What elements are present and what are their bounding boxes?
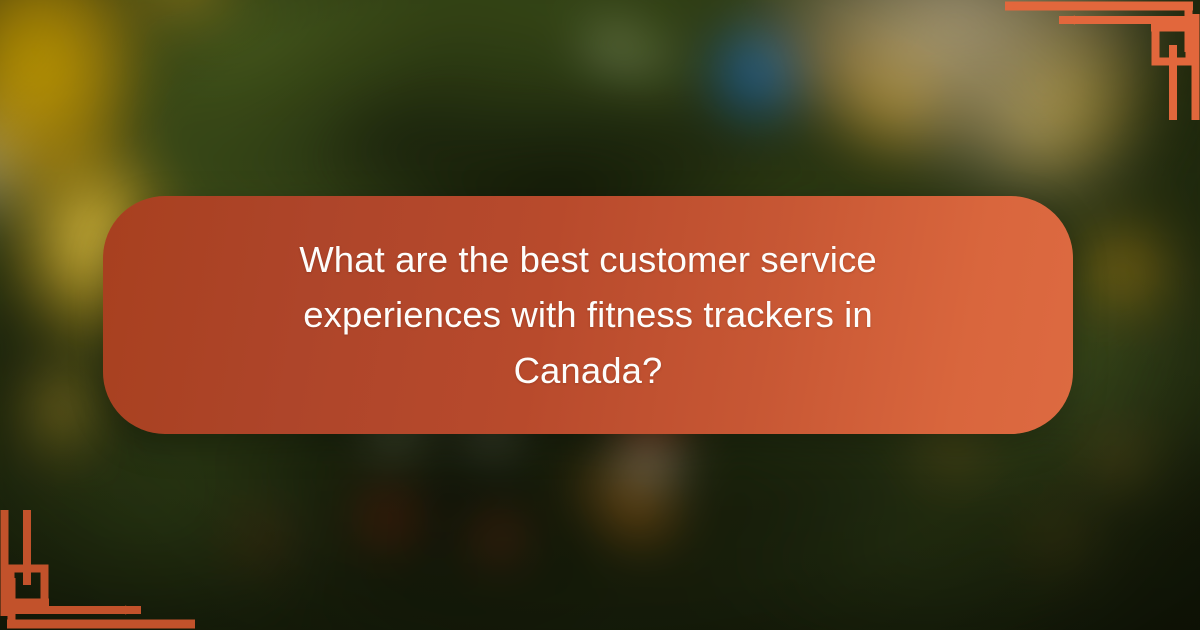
- question-card-graphic: What are the best customer service exper…: [0, 0, 1200, 630]
- question-card: What are the best customer service exper…: [103, 196, 1073, 434]
- corner-ornament-bottom-left: [0, 510, 205, 630]
- question-text: What are the best customer service exper…: [238, 232, 938, 398]
- corner-ornament-top-right-graphic: [995, 0, 1200, 120]
- corner-ornament-top-right: [995, 0, 1200, 120]
- corner-ornament-bottom-left-graphic: [0, 510, 205, 630]
